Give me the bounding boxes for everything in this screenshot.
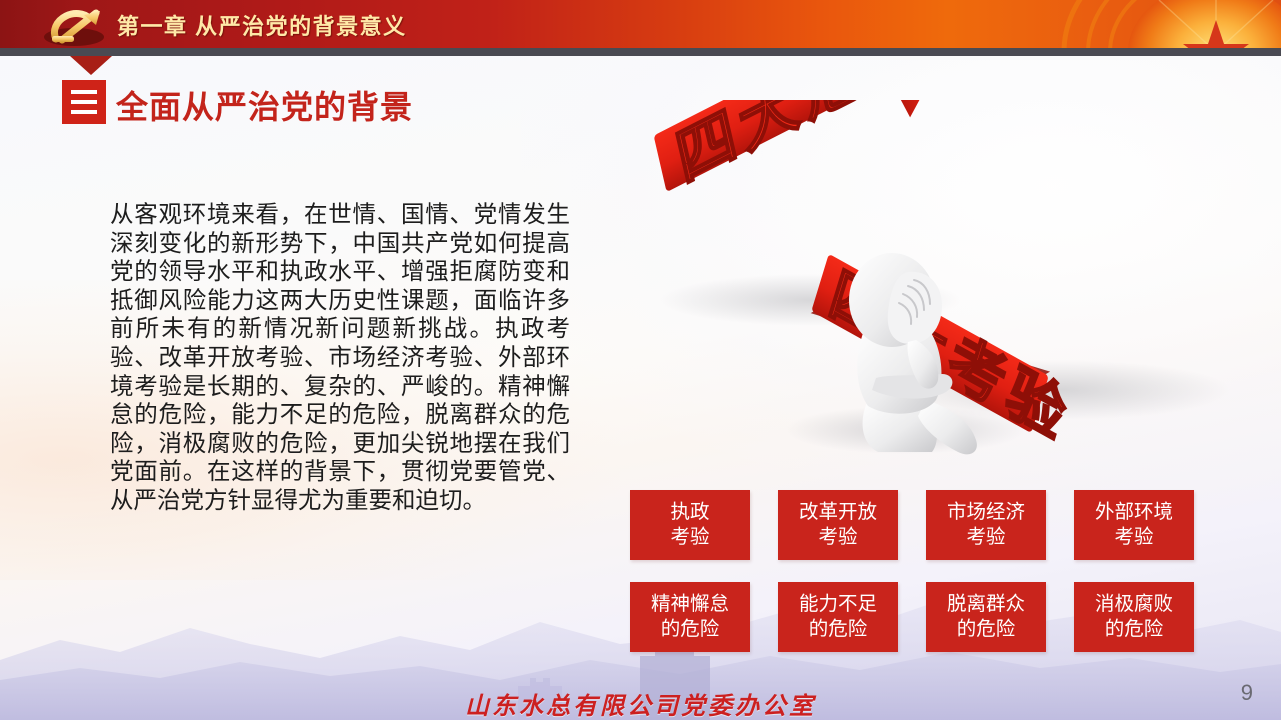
tag-item[interactable]: 能力不足 的危险 bbox=[778, 582, 898, 652]
caret-down-icon bbox=[70, 56, 112, 75]
tag-line-1: 精神懈怠 bbox=[651, 592, 729, 617]
hero-illustration: 四大危险 四大考验 bbox=[640, 100, 1260, 470]
tag-item[interactable]: 改革开放 考验 bbox=[778, 490, 898, 560]
header-underbar bbox=[0, 48, 1281, 56]
body-paragraph: 从客观环境来看，在世情、国情、党情发生深刻变化的新形势下，中国共产党如何提高党的… bbox=[110, 200, 570, 515]
party-emblem-icon bbox=[34, 3, 114, 47]
tag-line-1: 执政 bbox=[670, 500, 709, 525]
tag-line-1: 能力不足 bbox=[799, 592, 877, 617]
chapter-title: 第一章 从严治党的背景意义 bbox=[117, 9, 407, 41]
tag-item[interactable]: 外部环境 考验 bbox=[1074, 490, 1194, 560]
tag-line-2: 考验 bbox=[1114, 525, 1153, 550]
section-title: 全面从严治党的背景 bbox=[116, 82, 413, 128]
tag-line-2: 的危险 bbox=[957, 617, 1016, 642]
tag-line-2: 的危险 bbox=[809, 617, 868, 642]
tag-line-1: 改革开放 bbox=[799, 500, 877, 525]
chapter-header-bar: 第一章 从严治党的背景意义 bbox=[0, 0, 1281, 48]
tag-item[interactable]: 执政 考验 bbox=[630, 490, 750, 560]
hero-text-top: 四大危险 bbox=[640, 100, 951, 199]
red-star-rings-decoration bbox=[1011, 0, 1281, 48]
risk-tag-grid: 执政 考验 改革开放 考验 市场经济 考验 外部环境 考验 精神懈怠 的危险 能… bbox=[630, 490, 1170, 652]
tag-item[interactable]: 消极腐败 的危险 bbox=[1074, 582, 1194, 652]
footer-organization: 山东水总有限公司党委办公室 bbox=[0, 686, 1281, 720]
tag-item[interactable]: 脱离群众 的危险 bbox=[926, 582, 1046, 652]
tag-line-2: 考验 bbox=[818, 525, 857, 550]
tag-line-1: 外部环境 bbox=[1095, 500, 1173, 525]
tag-line-1: 脱离群众 bbox=[947, 592, 1025, 617]
tag-line-1: 市场经济 bbox=[947, 500, 1025, 525]
page-number: 9 bbox=[1241, 680, 1253, 706]
tag-line-2: 的危险 bbox=[661, 617, 720, 642]
tag-item[interactable]: 市场经济 考验 bbox=[926, 490, 1046, 560]
three-bars-icon bbox=[62, 80, 106, 124]
tag-line-2: 的危险 bbox=[1105, 617, 1164, 642]
tag-line-1: 消极腐败 bbox=[1095, 592, 1173, 617]
slide-canvas: 第一章 从严治党的背景意义 全面从严治党的背景 从客观环境来看，在世情、国情、党… bbox=[0, 0, 1281, 720]
svg-text:四大危险: 四大危险 bbox=[670, 100, 935, 195]
tag-line-2: 考验 bbox=[670, 525, 709, 550]
tag-item[interactable]: 精神懈怠 的危险 bbox=[630, 582, 750, 652]
tag-line-2: 考验 bbox=[966, 525, 1005, 550]
